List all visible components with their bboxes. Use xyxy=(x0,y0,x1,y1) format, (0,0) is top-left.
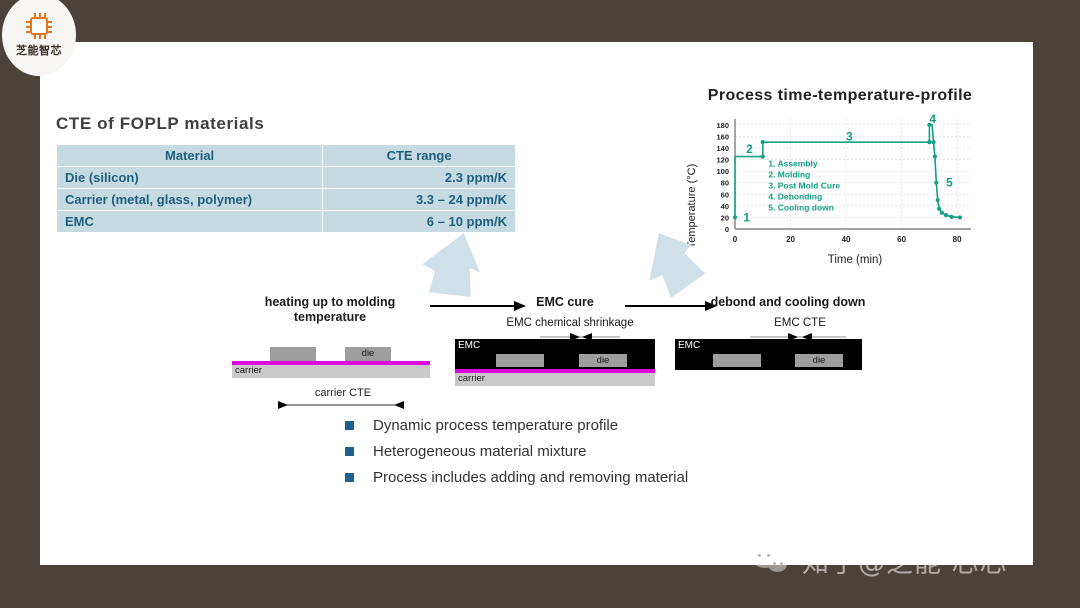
svg-text:20: 20 xyxy=(721,213,729,222)
down-left-block-arrow-icon xyxy=(415,227,495,302)
svg-text:100: 100 xyxy=(716,167,729,176)
svg-text:140: 140 xyxy=(716,144,729,153)
carrier-cte-arrows-icon xyxy=(278,401,404,410)
carrier-layer: carrier xyxy=(455,373,655,386)
die-block-labeled: die xyxy=(345,347,391,361)
list-item: Process includes adding and removing mat… xyxy=(345,469,688,486)
chart-yticks: 020406080100120140160180 xyxy=(716,121,729,234)
svg-text:120: 120 xyxy=(716,156,729,165)
brand-logo-text: 芝能智芯 xyxy=(16,42,62,58)
list-item-label: Dynamic process temperature profile xyxy=(373,417,618,434)
cell-cte-range: 3.3 – 24 ppm/K xyxy=(323,189,516,211)
svg-text:40: 40 xyxy=(842,235,851,244)
bullet-square-icon xyxy=(345,421,354,430)
svg-text:80: 80 xyxy=(721,179,729,188)
svg-text:0: 0 xyxy=(733,235,738,244)
svg-text:60: 60 xyxy=(721,190,729,199)
die-block-labeled: die xyxy=(579,354,627,367)
slide-canvas: CTE of FOPLP materials Material CTE rang… xyxy=(40,42,1033,565)
svg-text:4. Debonding: 4. Debonding xyxy=(768,191,822,201)
process-flow-diagram: heating up to moldingtemperature EMC cur… xyxy=(40,295,1033,410)
die-block-labeled: die xyxy=(795,354,843,367)
table-row: Carrier (metal, glass, polymer) 3.3 – 24… xyxy=(57,189,516,211)
watermark-text: 知乎@芝能 芯芯 xyxy=(802,541,1008,580)
die-label: die xyxy=(345,348,391,359)
bullet-square-icon xyxy=(345,473,354,482)
svg-text:1: 1 xyxy=(743,210,750,224)
svg-text:5. Cooling down: 5. Cooling down xyxy=(768,202,834,212)
svg-text:2: 2 xyxy=(746,142,753,156)
svg-text:5: 5 xyxy=(946,176,953,190)
stage-label-1-line1: heating up to moldingtemperature xyxy=(265,295,396,324)
table-header-row: Material CTE range xyxy=(57,145,516,167)
annotation-carrier-cte: carrier CTE xyxy=(288,387,398,399)
die-block xyxy=(496,354,544,367)
carrier-layer: carrier xyxy=(232,365,430,378)
carrier-label: carrier xyxy=(235,365,262,376)
cell-material: Carrier (metal, glass, polymer) xyxy=(57,189,323,211)
svg-text:160: 160 xyxy=(716,132,729,141)
svg-text:1. Assembly: 1. Assembly xyxy=(768,158,818,168)
chart-legend: 1. Assembly2. Molding3. Post Mold Cure4.… xyxy=(768,158,840,212)
stage-1-cross-section: die carrier xyxy=(232,347,432,387)
chart-xlabel: Time (min) xyxy=(828,254,883,266)
chart-xticks: 020406080 xyxy=(733,235,962,244)
die-label: die xyxy=(579,355,627,366)
annotation-emc-shrinkage: EMC chemical shrinkage xyxy=(465,317,675,329)
die-block xyxy=(270,347,316,361)
stage-label-1: heating up to moldingtemperature xyxy=(235,295,425,325)
svg-text:4: 4 xyxy=(929,112,936,126)
list-item: Heterogeneous material mixture xyxy=(345,443,688,460)
chart-plot: Temperature (°C) 02040608010012014016018… xyxy=(683,111,1033,276)
cte-table: Material CTE range Die (silicon) 2.3 ppm… xyxy=(56,144,516,233)
svg-text:80: 80 xyxy=(953,235,962,244)
svg-text:2. Molding: 2. Molding xyxy=(768,169,810,179)
bullet-square-icon xyxy=(345,447,354,456)
column-header-material: Material xyxy=(57,145,323,167)
svg-text:0: 0 xyxy=(725,225,729,234)
svg-text:40: 40 xyxy=(721,202,729,211)
column-header-cte-range: CTE range xyxy=(323,145,516,167)
bottom-watermark: 知乎@芝能 芯芯 xyxy=(752,541,1008,580)
wechat-icon xyxy=(752,548,792,574)
emc-label: EMC xyxy=(678,340,700,351)
svg-text:20: 20 xyxy=(786,235,795,244)
svg-text:60: 60 xyxy=(897,235,906,244)
cell-material: EMC xyxy=(57,211,323,233)
stage-2-cross-section: EMC die carrier xyxy=(455,339,657,387)
process-profile-chart-block: Process time-temperature-profile Tempera… xyxy=(665,87,1015,276)
chip-icon xyxy=(26,13,52,39)
carrier-label: carrier xyxy=(458,373,485,384)
list-item: Dynamic process temperature profile xyxy=(345,417,688,434)
cell-material: Die (silicon) xyxy=(57,167,323,189)
die-label: die xyxy=(795,355,843,366)
chart-title: Process time-temperature-profile xyxy=(665,87,1015,105)
emc-label: EMC xyxy=(458,340,480,351)
down-right-block-arrow-icon xyxy=(635,225,715,300)
list-item-label: Heterogeneous material mixture xyxy=(373,443,586,460)
cte-table-title: CTE of FOPLP materials xyxy=(56,114,516,134)
key-points-list: Dynamic process temperature profile Hete… xyxy=(345,417,688,495)
svg-text:3: 3 xyxy=(846,129,853,143)
chart-svg: Temperature (°C) 02040608010012014016018… xyxy=(683,111,983,271)
die-block xyxy=(713,354,761,367)
stage-label-2: EMC cure xyxy=(510,295,620,310)
svg-text:180: 180 xyxy=(716,121,729,130)
annotation-emc-cte: EMC CTE xyxy=(715,317,885,329)
stage-3-cross-section: EMC die xyxy=(675,339,865,371)
cte-table-block: CTE of FOPLP materials Material CTE rang… xyxy=(56,114,516,233)
svg-text:3. Post Mold Cure: 3. Post Mold Cure xyxy=(768,180,840,190)
cell-cte-range: 2.3 ppm/K xyxy=(323,167,516,189)
list-item-label: Process includes adding and removing mat… xyxy=(373,469,688,486)
table-row: Die (silicon) 2.3 ppm/K xyxy=(57,167,516,189)
